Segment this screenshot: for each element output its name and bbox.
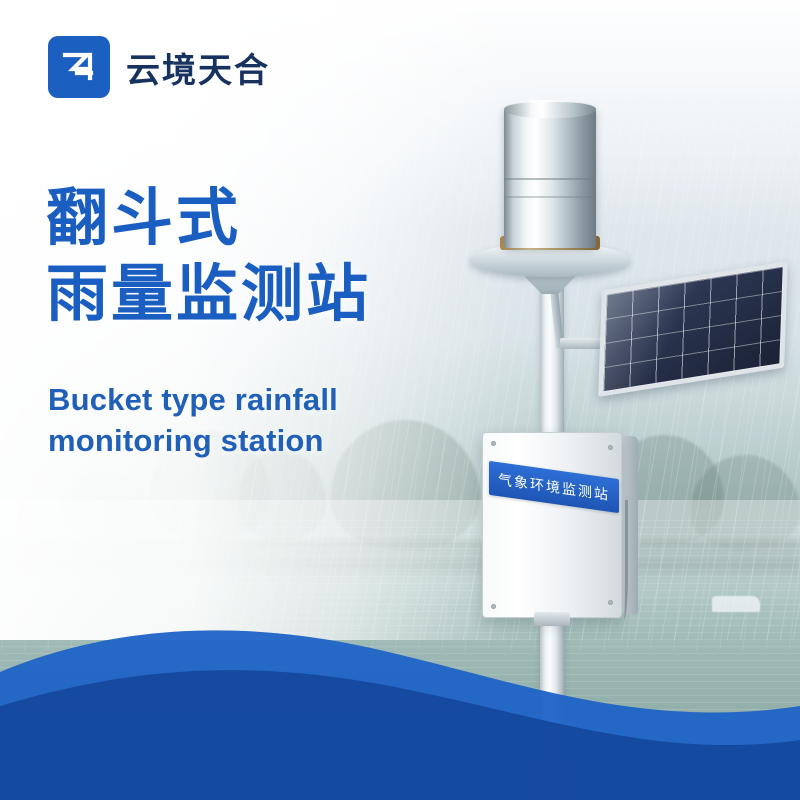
brand-name: 云境天合: [126, 43, 270, 92]
headline-line-2: 雨量监测站: [46, 256, 371, 332]
rain-gauge-seam: [504, 178, 596, 180]
bottom-wave-graphic: [0, 580, 800, 800]
enclosure-screw: [491, 441, 496, 446]
subheadline-line-1: Bucket type rainfall: [48, 380, 338, 421]
headline-line-1: 翻斗式: [46, 180, 371, 256]
rain-gauge-rim: [504, 100, 596, 118]
poster-canvas: 气象环境监测站 云境天合 翻斗式 雨量监测站 Bucket type rainf…: [0, 0, 800, 800]
enclosure-screw: [608, 445, 613, 450]
rain-gauge-seam: [504, 196, 596, 198]
zr-monogram-icon: [48, 36, 110, 98]
brand-logo[interactable]: 云境天合: [48, 36, 270, 98]
page-title: 翻斗式 雨量监测站: [46, 180, 371, 331]
subheadline-line-2: monitoring station: [48, 421, 338, 462]
page-subtitle: Bucket type rainfall monitoring station: [48, 380, 338, 462]
